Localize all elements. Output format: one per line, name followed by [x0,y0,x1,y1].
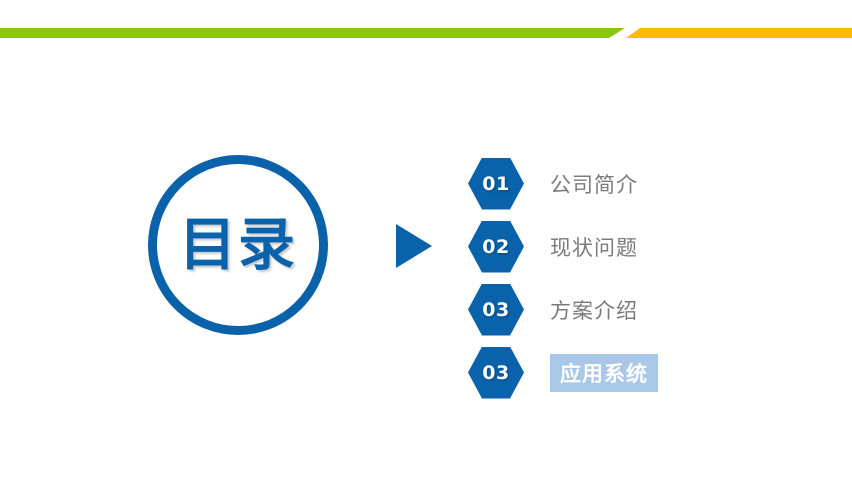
top-decoration-bar [0,28,852,38]
hexagon-badge: 01 [468,158,524,210]
toc-item-label: 公司简介 [550,166,638,202]
presentation-slide: 目录 01 公司简介 02 现状问题 03 方案介绍 03 应用 [0,0,852,480]
toc-item-label: 现状问题 [550,229,638,265]
toc-item-label: 方案介绍 [550,292,638,328]
toc-item-02[interactable]: 02 现状问题 [468,215,798,278]
toc-item-number: 03 [482,299,509,321]
hexagon-badge: 03 [468,284,524,336]
toc-item-03[interactable]: 03 方案介绍 [468,278,798,341]
toc-item-01[interactable]: 01 公司简介 [468,152,798,215]
play-triangle-icon [396,224,432,268]
toc-item-number: 02 [482,236,509,258]
toc-list: 01 公司简介 02 现状问题 03 方案介绍 03 应用系统 [468,152,798,404]
hexagon-badge: 03 [468,347,524,399]
toc-item-label-active: 应用系统 [550,354,658,392]
toc-item-04[interactable]: 03 应用系统 [468,341,798,404]
toc-circle: 目录 [148,155,328,335]
orange-accent-bar [626,28,852,38]
toc-item-number: 01 [482,173,509,195]
green-accent-bar [0,28,625,38]
hexagon-badge: 02 [468,221,524,273]
toc-circle-label: 目录 [179,217,297,274]
toc-item-number: 03 [482,362,509,384]
